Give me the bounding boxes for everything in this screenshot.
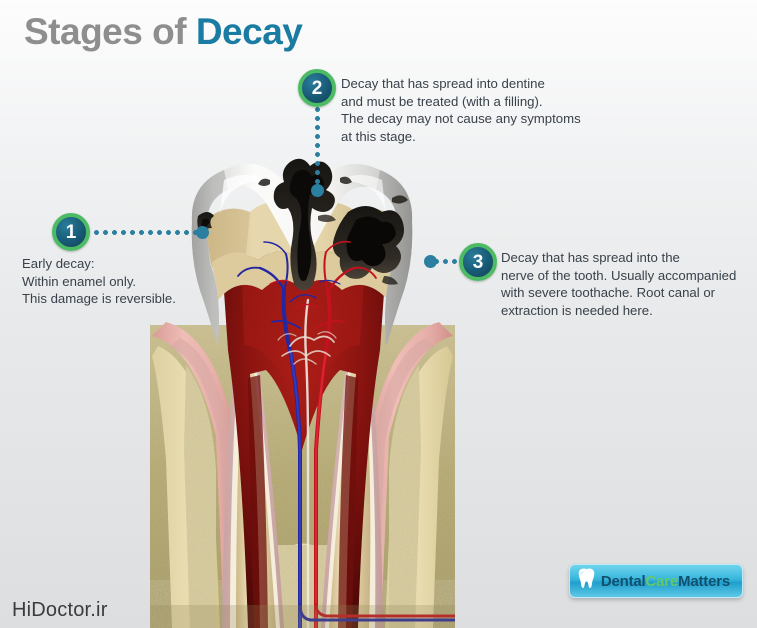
logo-part-dental: Dental xyxy=(601,573,646,590)
stage-badge-3-number: 3 xyxy=(473,253,484,272)
logo-text: DentalCareMatters xyxy=(601,573,730,590)
dentalcarematters-logo[interactable]: DentalCareMatters xyxy=(569,564,743,598)
leader-line-2 xyxy=(315,105,320,191)
tooth-cross-section-illustration xyxy=(150,150,455,628)
stage-badge-2-number: 2 xyxy=(312,79,323,98)
watermark-hidoctor: HiDoctor.ir xyxy=(12,599,108,622)
leader-endpoint-1 xyxy=(196,226,209,239)
leader-line-1 xyxy=(92,230,204,235)
stage-badge-1[interactable]: 1 xyxy=(52,213,90,251)
stage-badge-2[interactable]: 2 xyxy=(298,69,336,107)
leader-endpoint-3 xyxy=(424,255,437,268)
logo-part-care: Care xyxy=(645,573,678,590)
leader-endpoint-2 xyxy=(311,184,324,197)
logo-part-matters: Matters xyxy=(678,573,730,590)
title-part-decay: Decay xyxy=(196,11,303,52)
page-title: Stages of Decay xyxy=(24,13,302,50)
infographic-canvas: Stages of Decay xyxy=(0,0,757,628)
tooth-icon xyxy=(578,568,595,594)
stage-description-2: Decay that has spread into dentine and m… xyxy=(341,75,611,145)
stage-description-1: Early decay: Within enamel only. This da… xyxy=(22,255,222,308)
stage-badge-1-number: 1 xyxy=(66,223,77,242)
title-part-stages-of: Stages of xyxy=(24,11,196,52)
stage-description-3: Decay that has spread into the nerve of … xyxy=(501,249,757,319)
stage-badge-3[interactable]: 3 xyxy=(459,243,497,281)
